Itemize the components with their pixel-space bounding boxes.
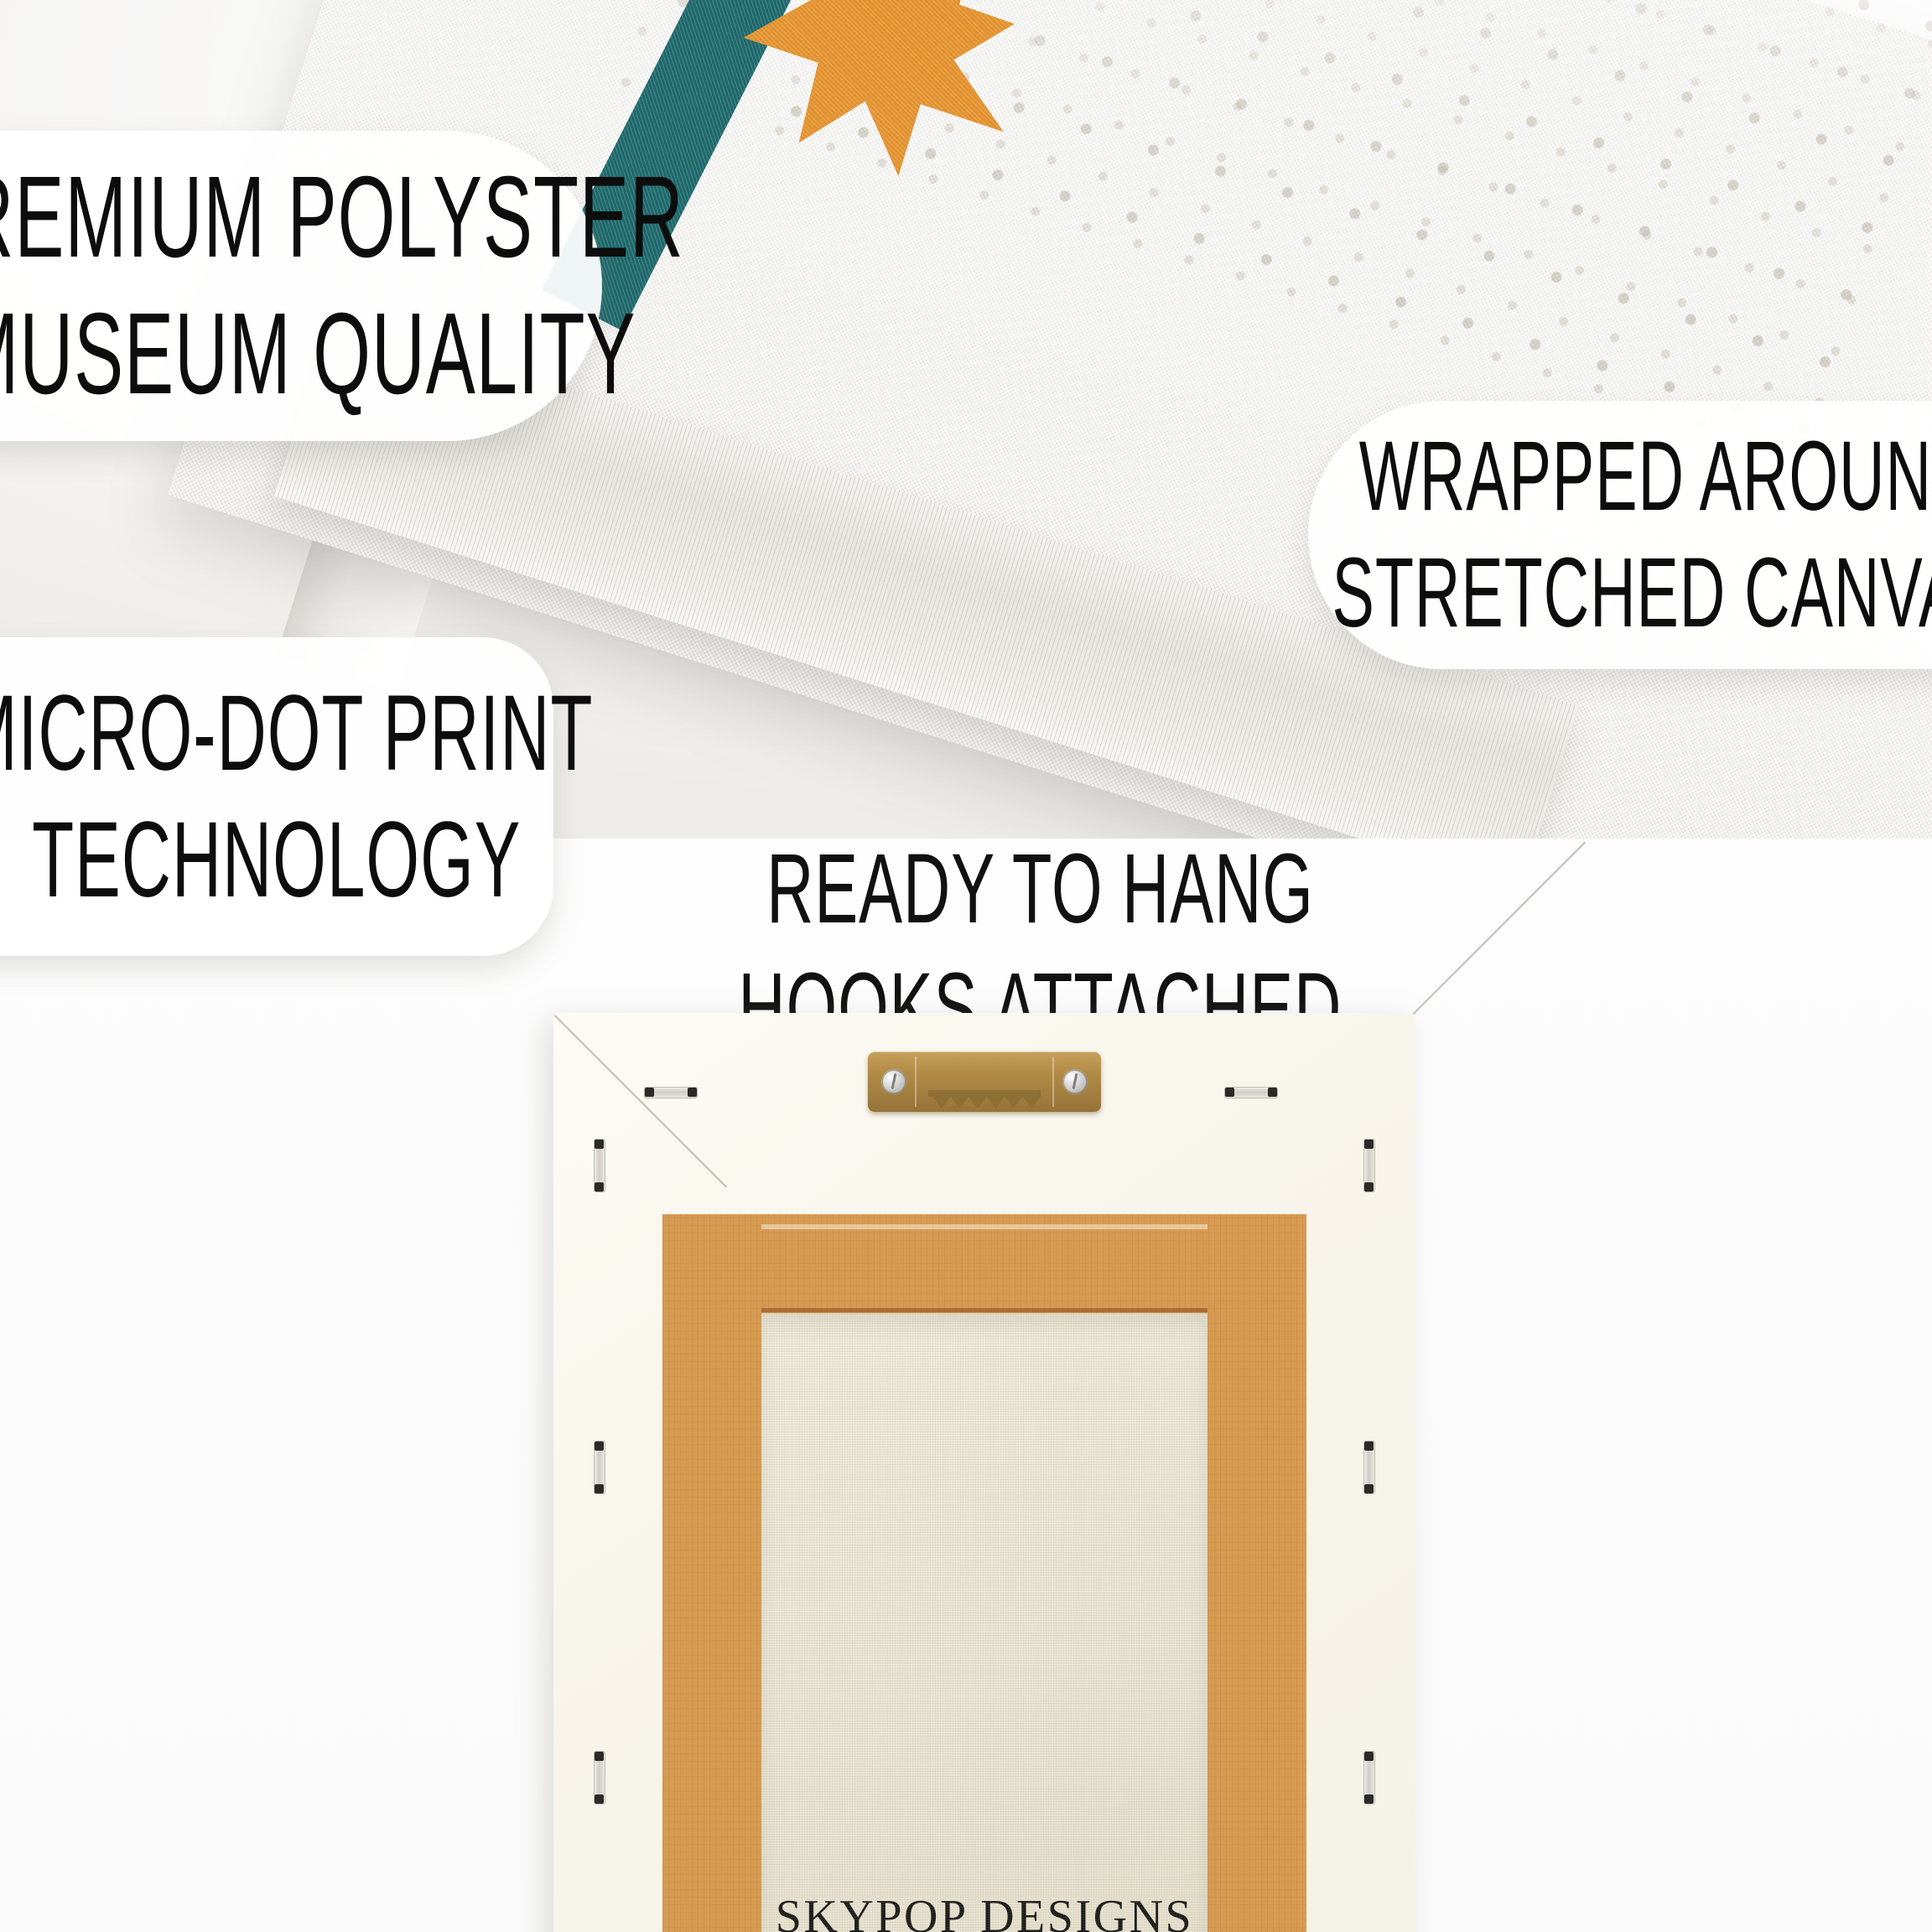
hanger-screw (1062, 1069, 1088, 1094)
wood-shadow (761, 1308, 1207, 1312)
staple (594, 1751, 605, 1805)
wrapped-canvas-label: WRAPPED AROUND STRETCHED CANVAS (1308, 401, 1932, 669)
staple (1363, 1139, 1375, 1192)
brand-name: SKYPOP DESIGNS (761, 1890, 1207, 1932)
sawtooth-hanger-icon (868, 1052, 1101, 1112)
label-line: STRETCHED CANVAS (1332, 535, 1932, 652)
staple (644, 1087, 698, 1098)
staple (594, 1441, 605, 1494)
micro-dot-label: MICRO-DOT PRINT TECHNOLOGY (0, 637, 553, 956)
premium-polyster-label: PREMIUM POLYSTER MUSEUM QUALITY (0, 131, 602, 441)
canvas-back-product: SKYPOP DESIGNS (553, 1013, 1415, 1932)
label-line: WRAPPED AROUND (1359, 418, 1932, 535)
staple (594, 1139, 605, 1192)
label-line: TECHNOLOGY (32, 797, 521, 923)
inner-canvas-surface: SKYPOP DESIGNS (761, 1313, 1207, 1932)
label-line: MICRO-DOT PRINT (0, 670, 594, 797)
caption-line: READY TO HANG (766, 830, 1314, 949)
staple (1224, 1087, 1278, 1098)
label-line: PREMIUM POLYSTER (0, 149, 684, 286)
wood-highlight (761, 1224, 1207, 1229)
staple (1363, 1751, 1375, 1805)
hanger-seam (915, 1057, 917, 1107)
staple (1363, 1441, 1375, 1494)
product-infographic: PREMIUM POLYSTER MUSEUM QUALITY WRAPPED … (0, 0, 1932, 1932)
hanger-teeth (928, 1090, 1041, 1109)
hanger-screw (881, 1069, 906, 1094)
label-line: MUSEUM QUALITY (0, 286, 636, 423)
hanger-seam (1052, 1057, 1054, 1107)
